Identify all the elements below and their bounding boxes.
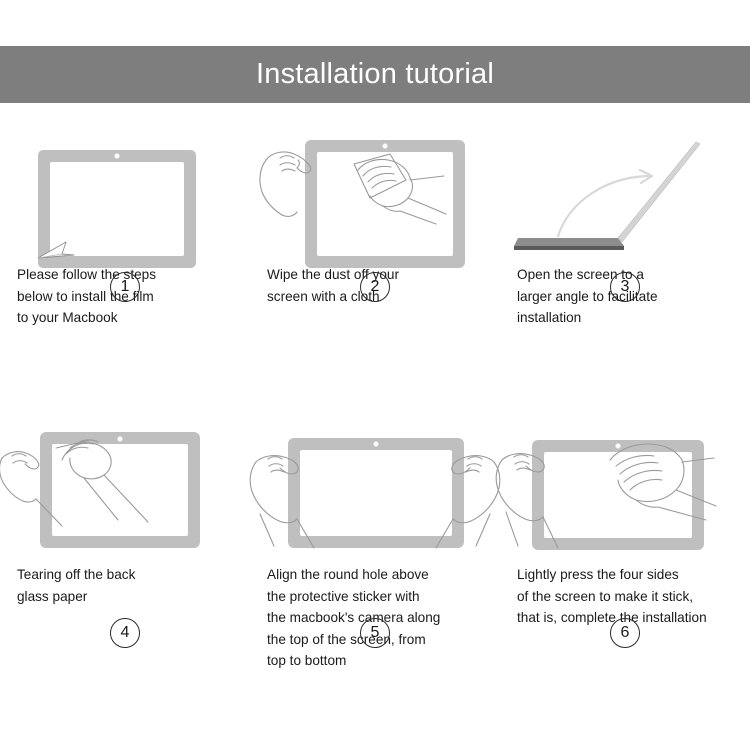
- step-6-illustration: [500, 418, 750, 560]
- step-number-badge: 4: [110, 618, 140, 648]
- steps-grid: Please follow the steps below to install…: [0, 118, 750, 718]
- step-2-illustration: [250, 118, 500, 260]
- step-5-illustration: [250, 418, 500, 560]
- step-card-4: Tearing off the back glass paper 4: [0, 418, 250, 718]
- page-banner: Installation tutorial: [0, 46, 750, 103]
- step-number-badge: 5: [360, 618, 390, 648]
- step-5-number-wrap: 5: [250, 618, 500, 648]
- step-3-number-wrap: 3: [500, 272, 750, 302]
- hand-wiping-screen-with-cloth-icon: [260, 140, 465, 268]
- step-number-badge: 2: [360, 272, 390, 302]
- tutorial-page: Installation tutorial: [0, 0, 750, 750]
- laptop-opening-lid-arrow-icon: [514, 142, 700, 250]
- step-2-number-wrap: 2: [250, 272, 500, 302]
- step-card-1: Please follow the steps below to install…: [0, 118, 250, 418]
- step-card-6: Lightly press the four sides of the scre…: [500, 418, 750, 718]
- page-title: Installation tutorial: [256, 60, 494, 89]
- step-6-number-wrap: 6: [500, 618, 750, 648]
- step-number-badge: 1: [110, 272, 140, 302]
- two-hands-aligning-film-on-screen-icon: [250, 438, 500, 548]
- step-card-2: Wipe the dust off your screen with a clo…: [250, 118, 500, 418]
- step-4-number-wrap: 4: [0, 618, 250, 648]
- step-number-badge: 3: [610, 272, 640, 302]
- step-card-3: Open the screen to a larger angle to fac…: [500, 118, 750, 418]
- hand-pressing-film-onto-screen-icon: [496, 440, 716, 550]
- step-3-illustration: [500, 118, 750, 260]
- step-1-illustration: [0, 118, 250, 260]
- step-4-illustration: [0, 418, 250, 560]
- steps-row-1: Please follow the steps below to install…: [0, 118, 750, 418]
- step-card-5: Align the round hole above the protectiv…: [250, 418, 500, 718]
- step-number-badge: 6: [610, 618, 640, 648]
- steps-row-2: Tearing off the back glass paper 4: [0, 418, 750, 718]
- step-1-number-wrap: 1: [0, 272, 250, 302]
- hands-peeling-backing-paper-icon: [0, 432, 200, 548]
- screen-with-peeling-film-corner-icon: [38, 150, 196, 268]
- step-4-caption: Tearing off the back glass paper: [0, 564, 250, 607]
